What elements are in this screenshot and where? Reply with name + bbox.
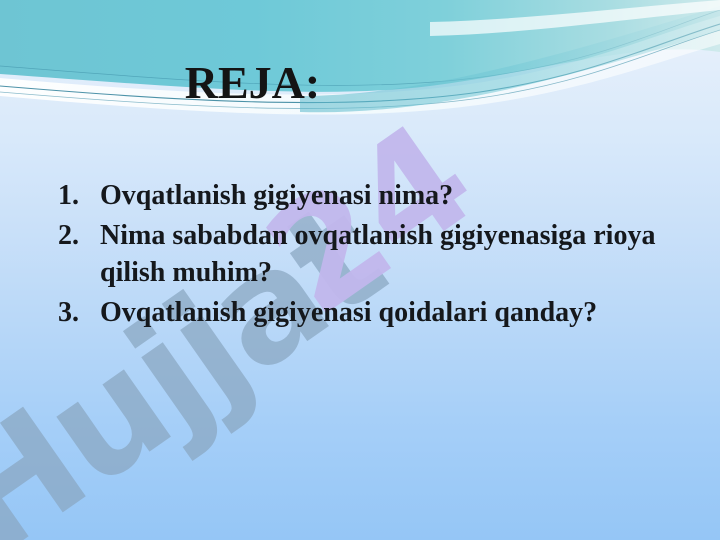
slide-content: REJA: 1. Ovqatlanish gigiyenasi nima? 2.… — [0, 0, 720, 540]
list-item-text: Nima sababdan ovqatlanish gigiyenasiga r… — [100, 218, 658, 291]
list-item-number: 1. — [58, 178, 100, 214]
list-item-number: 2. — [58, 218, 100, 254]
list-item: 1. Ovqatlanish gigiyenasi nima? — [58, 178, 658, 214]
agenda-list: 1. Ovqatlanish gigiyenasi nima? 2. Nima … — [58, 178, 658, 336]
presentation-slide: Hujjat 24 REJA: 1. Ovqatlanish gigiyenas… — [0, 0, 720, 540]
list-item-number: 3. — [58, 295, 100, 331]
list-item: 2. Nima sababdan ovqatlanish gigiyenasig… — [58, 218, 658, 291]
list-item-text: Ovqatlanish gigiyenasi nima? — [100, 178, 658, 214]
list-item-text: Ovqatlanish gigiyenasi qoidalari qanday? — [100, 295, 658, 331]
list-item: 3. Ovqatlanish gigiyenasi qoidalari qand… — [58, 295, 658, 331]
slide-title: REJA: — [0, 56, 505, 109]
